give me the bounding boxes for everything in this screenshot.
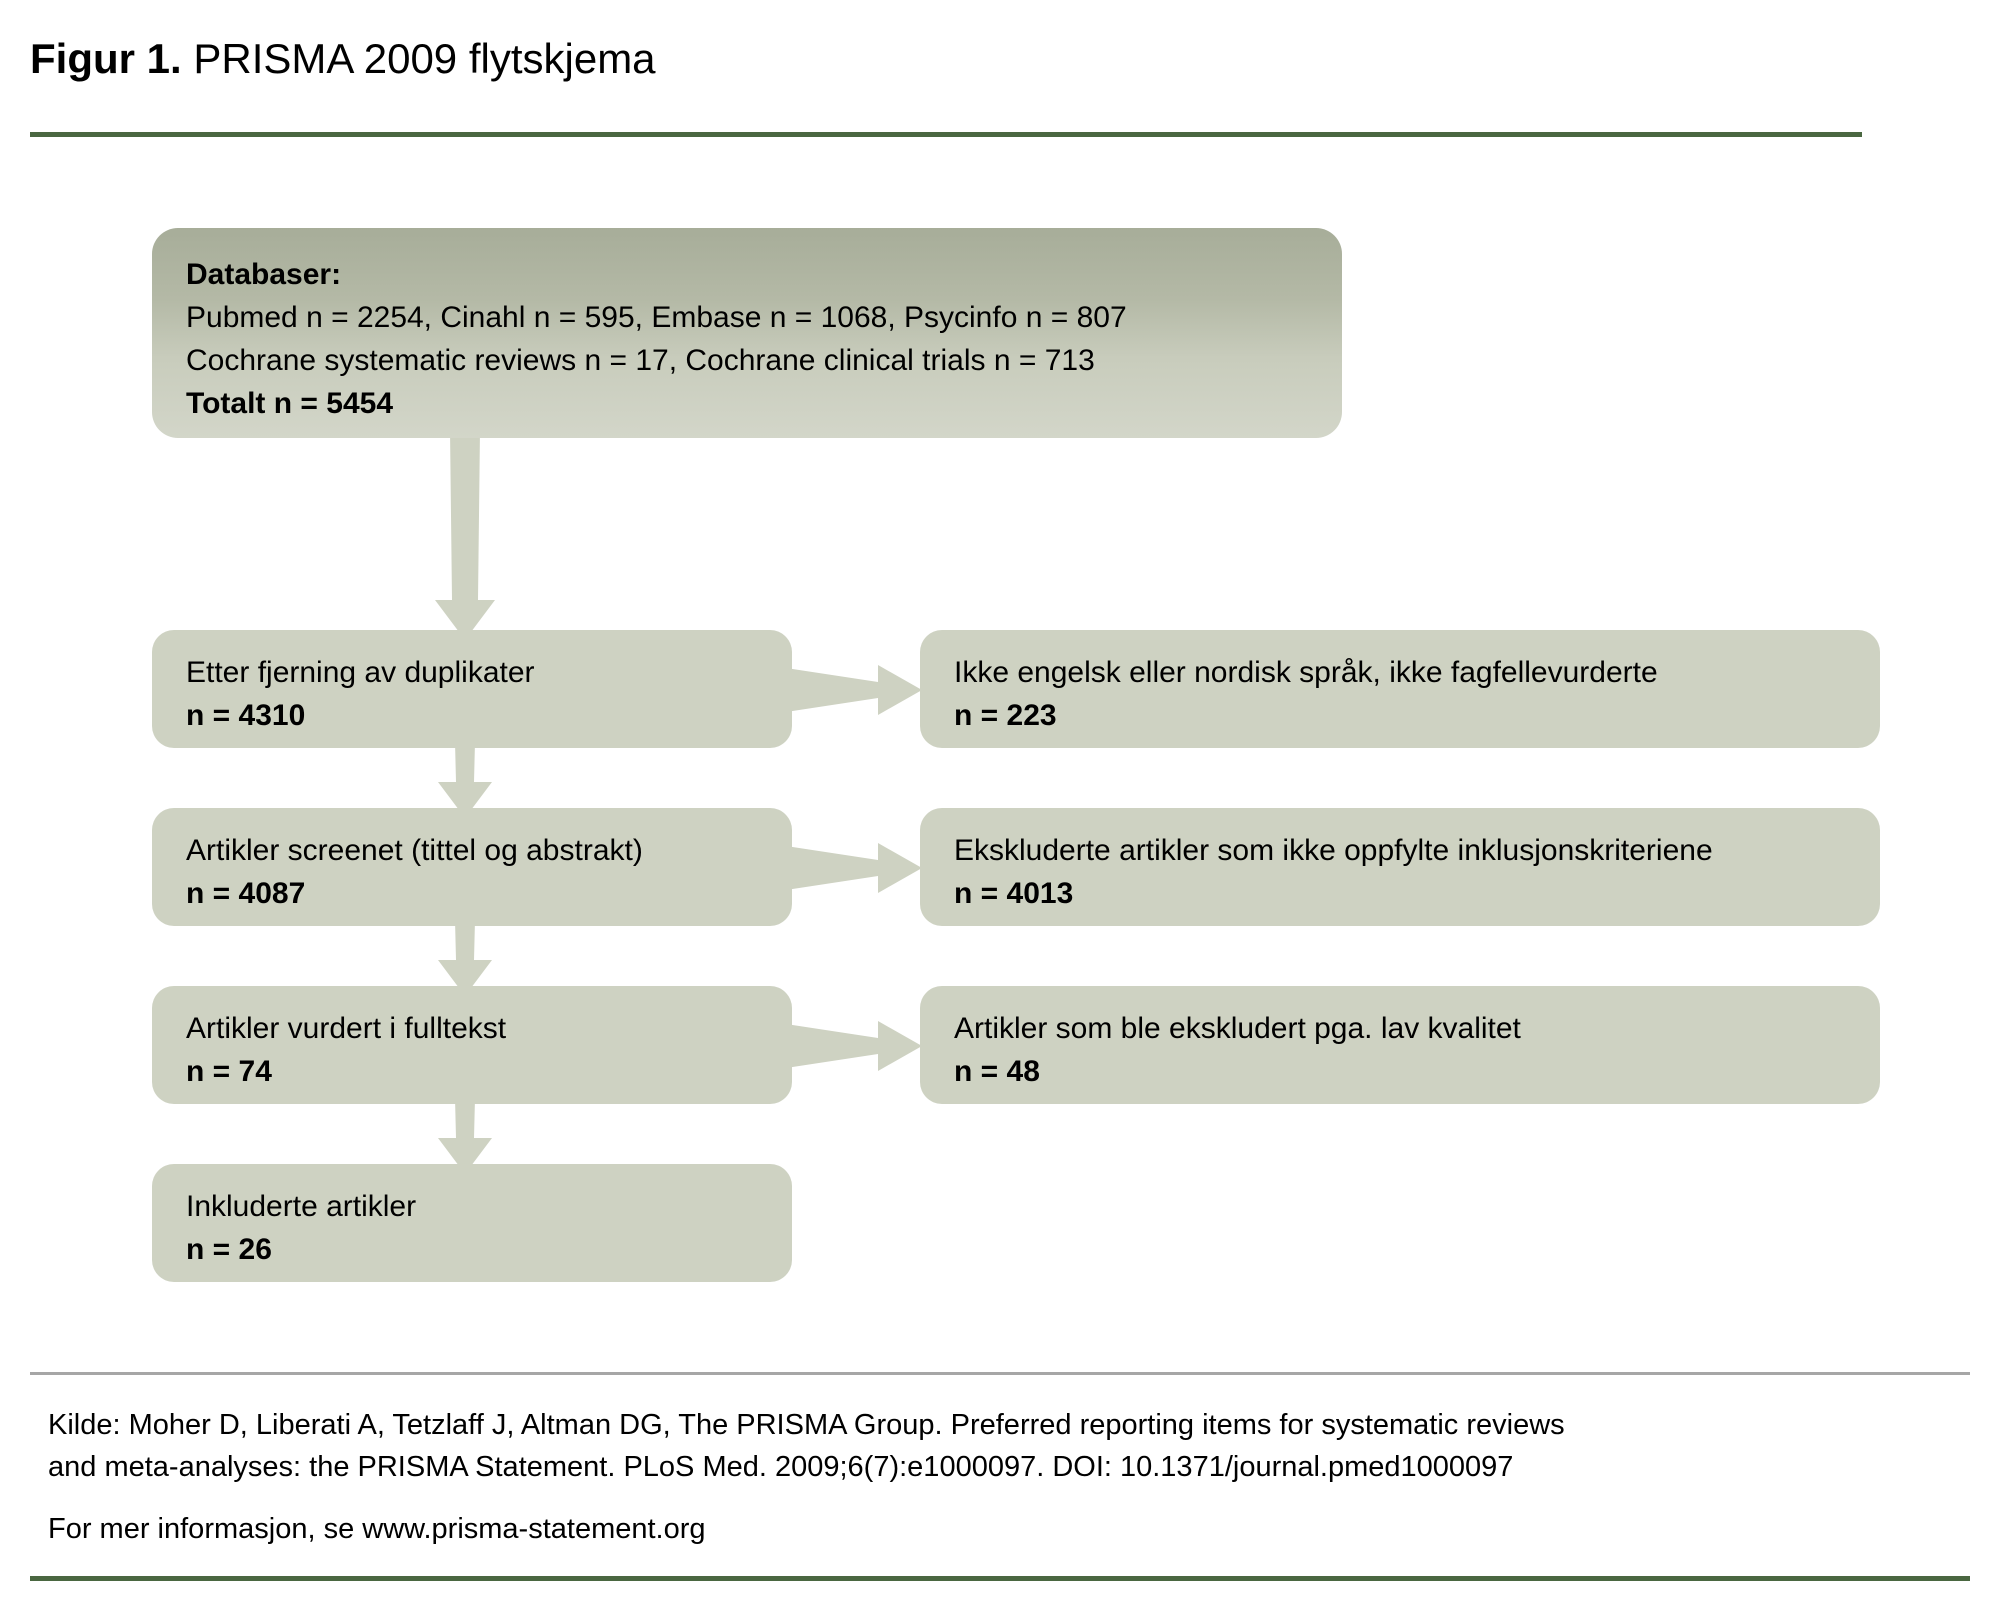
node-excl-crit-count: n = 4013 (954, 873, 1846, 916)
node-databases-heading: Databaser: (186, 254, 1308, 297)
node-included-articles: Inkluderte artikler n = 26 (152, 1164, 792, 1282)
prisma-flowchart: Databaser: Pubmed n = 2254, Cinahl n = 5… (0, 0, 2000, 1622)
figure-page: Figur 1. PRISMA 2009 flytskjema Database… (0, 0, 2000, 1622)
node-excluded-quality: Artikler som ble ekskludert pga. lav kva… (920, 986, 1880, 1104)
source-citation: Kilde: Moher D, Liberati A, Tetzlaff J, … (48, 1404, 1565, 1488)
node-fulltext-assessed: Artikler vurdert i fulltekst n = 74 (152, 986, 792, 1104)
arrow-fulltext-to-included (438, 1098, 492, 1174)
footer-bottom-rule (30, 1576, 1970, 1581)
node-excluded-criteria: Ekskluderte artikler som ikke oppfylte i… (920, 808, 1880, 926)
node-screened-label: Artikler screenet (tittel og abstrakt) (186, 830, 758, 873)
node-databases-line-2: Cochrane systematic reviews n = 17, Coch… (186, 340, 1308, 383)
node-included-label: Inkluderte artikler (186, 1186, 758, 1229)
node-dedup-label: Etter fjerning av duplikater (186, 652, 758, 695)
node-databases-total: Totalt n = 5454 (186, 383, 1308, 426)
node-fulltext-label: Artikler vurdert i fulltekst (186, 1008, 758, 1051)
node-excl-qual-count: n = 48 (954, 1051, 1846, 1094)
node-after-duplicate-removal: Etter fjerning av duplikater n = 4310 (152, 630, 792, 748)
node-excluded-language: Ikke engelsk eller nordisk språk, ikke f… (920, 630, 1880, 748)
node-excl-qual-label: Artikler som ble ekskludert pga. lav kva… (954, 1008, 1846, 1051)
footer-top-rule (30, 1372, 1970, 1375)
source-citation-line-2: and meta-analyses: the PRISMA Statement.… (48, 1446, 1565, 1488)
node-fulltext-count: n = 74 (186, 1051, 758, 1094)
arrow-fulltext-to-excl-qual (786, 1021, 922, 1071)
node-included-count: n = 26 (186, 1229, 758, 1272)
arrow-dedup-to-screened (438, 742, 492, 818)
source-citation-line-1: Kilde: Moher D, Liberati A, Tetzlaff J, … (48, 1404, 1565, 1446)
arrow-screened-to-fulltext (438, 920, 492, 996)
node-lang-label: Ikke engelsk eller nordisk språk, ikke f… (954, 652, 1846, 695)
arrow-screened-to-excl-crit (786, 843, 922, 893)
more-info-line: For mer informasjon, se www.prisma-state… (48, 1508, 706, 1550)
node-screened: Artikler screenet (tittel og abstrakt) n… (152, 808, 792, 926)
node-dedup-count: n = 4310 (186, 695, 758, 738)
node-databases: Databaser: Pubmed n = 2254, Cinahl n = 5… (152, 228, 1342, 438)
node-screened-count: n = 4087 (186, 873, 758, 916)
node-databases-line-1: Pubmed n = 2254, Cinahl n = 595, Embase … (186, 297, 1308, 340)
arrow-source-to-dedup (435, 430, 495, 640)
node-excl-crit-label: Ekskluderte artikler som ikke oppfylte i… (954, 830, 1846, 873)
node-lang-count: n = 223 (954, 695, 1846, 738)
arrow-dedup-to-lang (786, 665, 922, 715)
